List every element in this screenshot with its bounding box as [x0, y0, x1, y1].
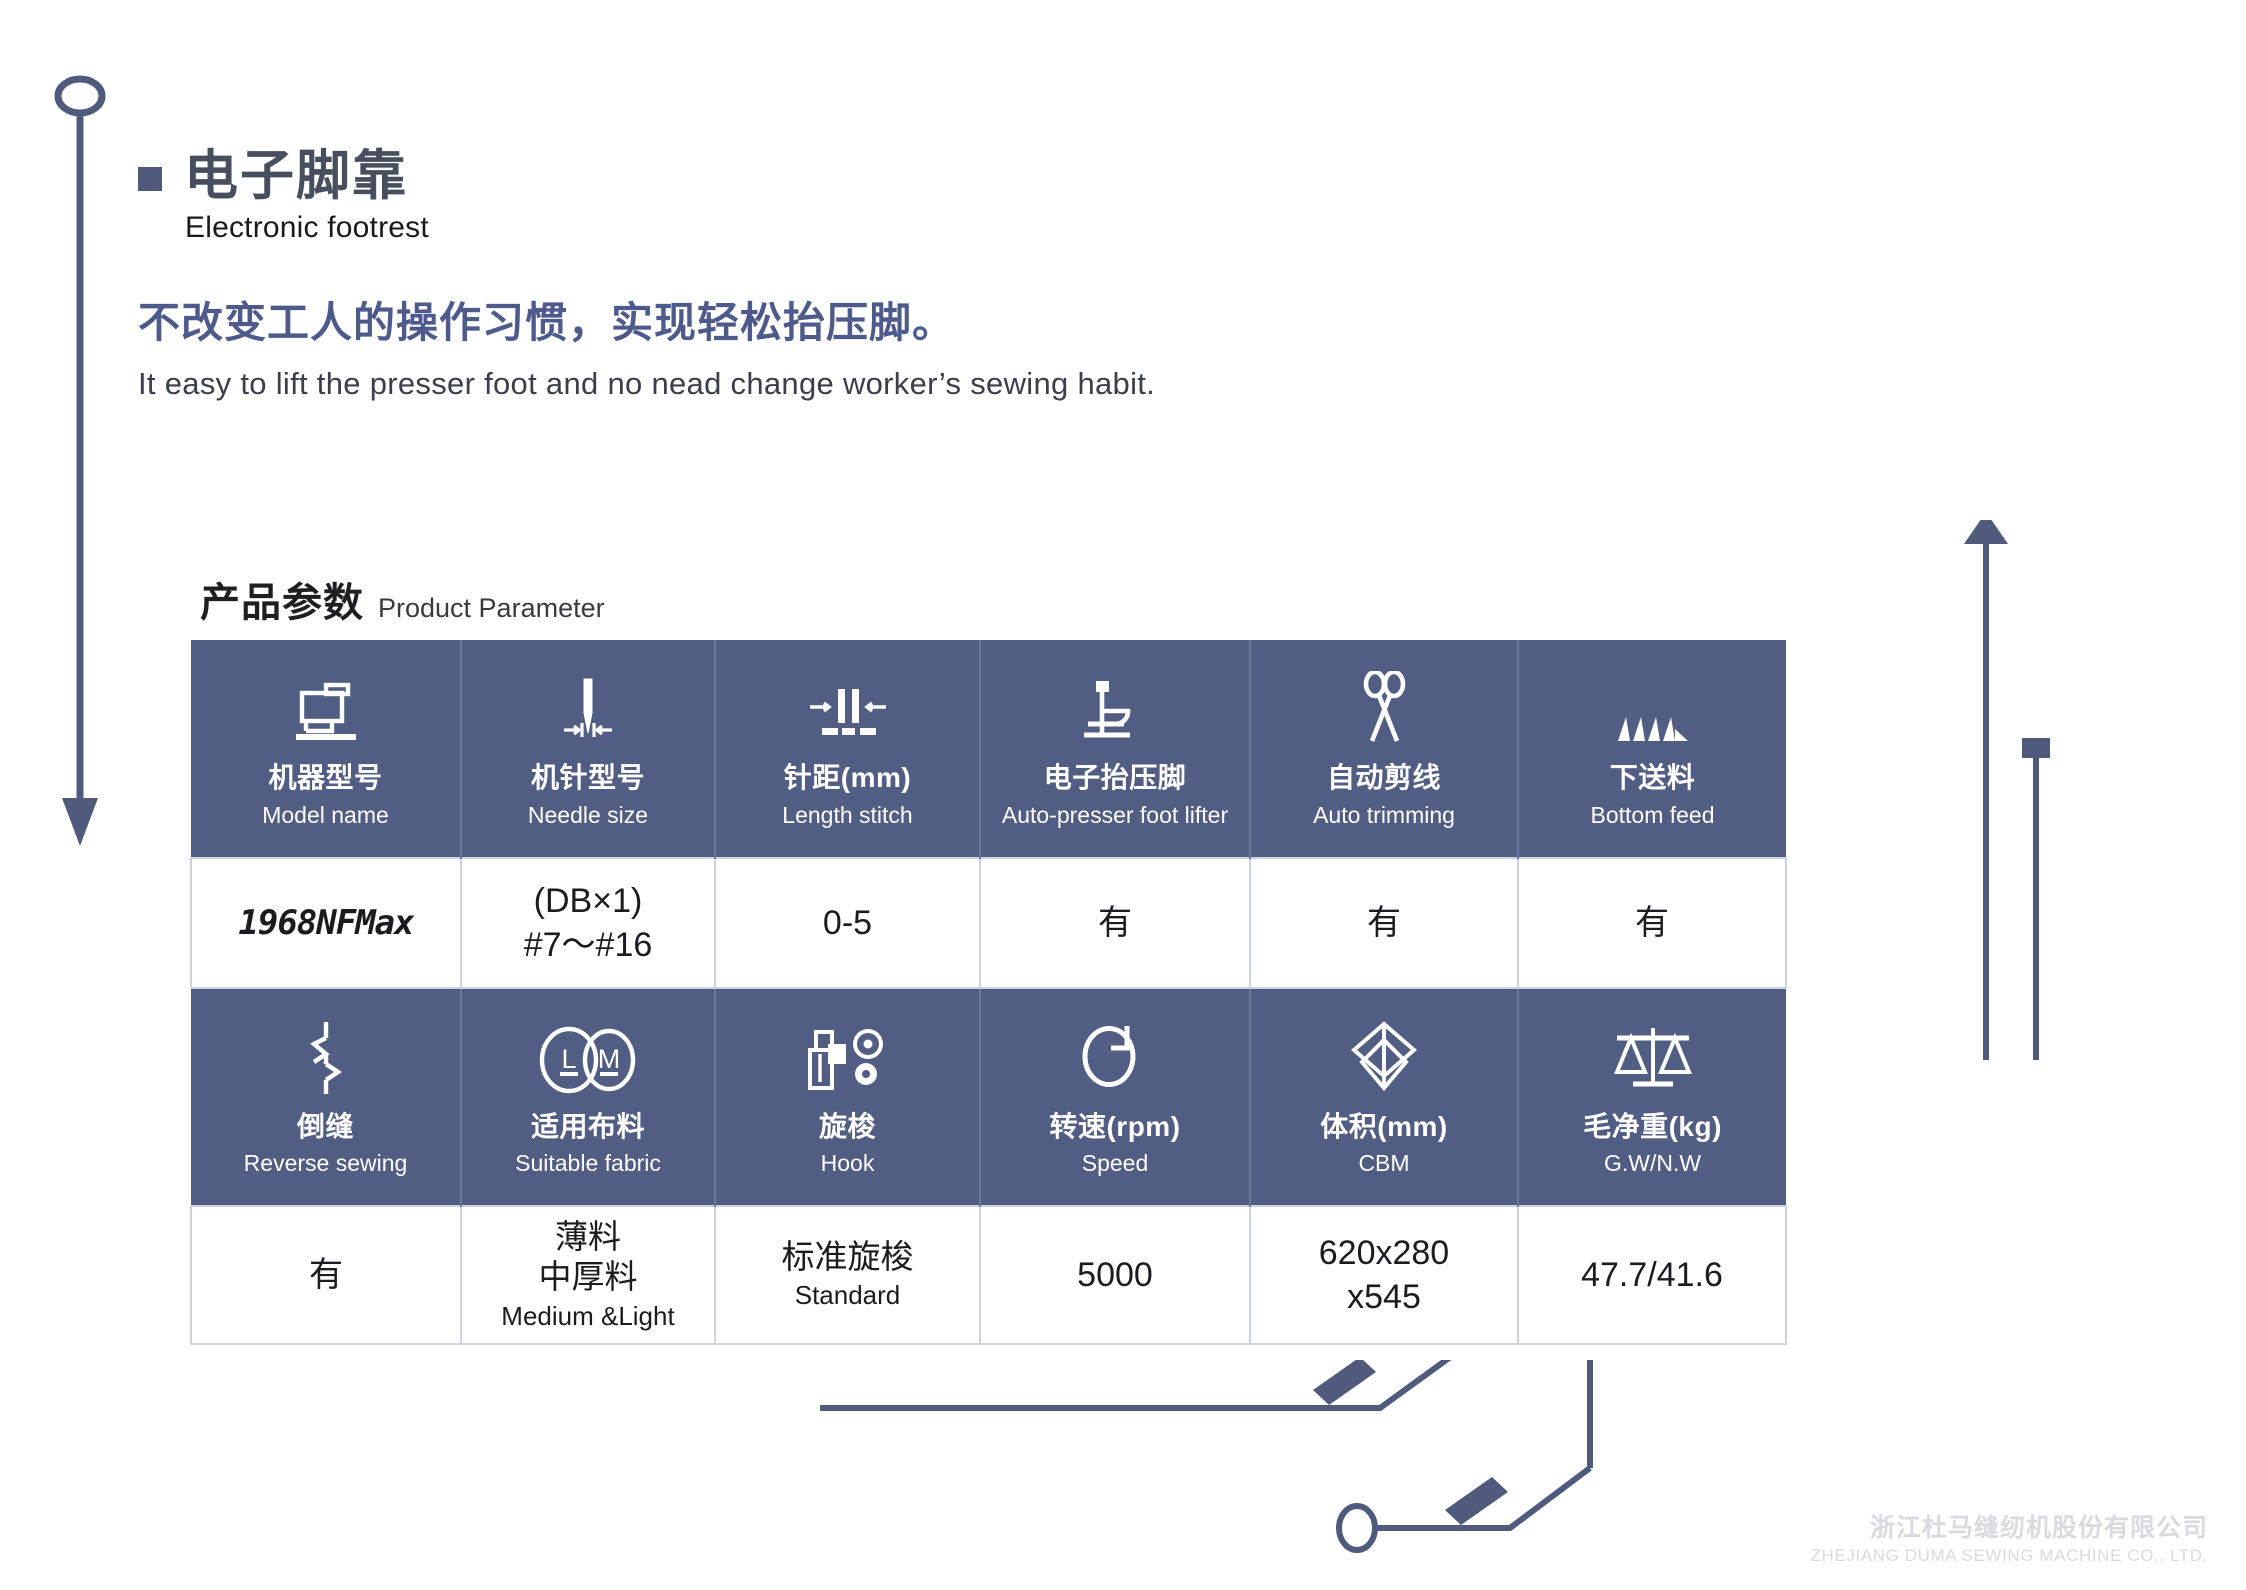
header-en: G.W/N.W [1523, 1149, 1782, 1178]
spec-table: 机器型号 Model name 机针型号 Need [190, 640, 1787, 1345]
value-line: 有 [1257, 901, 1511, 945]
header-cn: 自动剪线 [1255, 761, 1513, 795]
value-line: 620x280 [1257, 1231, 1511, 1275]
svg-text:M: M [598, 1044, 621, 1074]
value-cell-cbm: 620x280 x545 [1250, 1206, 1518, 1344]
table-header-row: 倒缝 Reverse sewing L M 适用布料 Suitable fabr… [191, 988, 1786, 1206]
value-line: x545 [1257, 1275, 1511, 1319]
bottom-feed-icon [1523, 669, 1782, 747]
table-header-row: 机器型号 Model name 机针型号 Need [191, 640, 1786, 858]
needle-size-icon [466, 669, 710, 747]
header-cell-needle-size: 机针型号 Needle size [461, 640, 715, 858]
tagline-cn: 不改变工人的操作习惯，实现轻松抬压脚。 [138, 289, 1155, 350]
header-en: Needle size [466, 801, 710, 830]
param-label-cn: 产品参数 [200, 570, 364, 628]
header-cell-speed: 转速(rpm) Speed [980, 988, 1250, 1206]
title-row: 电子脚靠 [138, 148, 1155, 205]
sewing-machine-icon [195, 669, 456, 747]
hook-icon [720, 1018, 975, 1096]
header-en: Model name [195, 801, 456, 830]
header-en: Length stitch [720, 801, 975, 830]
value-cell-model-name: 1968NFMax [191, 858, 461, 988]
decoration-left-arrow [0, 0, 200, 900]
heading-block: 电子脚靠 Electronic footrest 不改变工人的操作习惯，实现轻松… [138, 148, 1155, 402]
value-cell-auto-trimming: 有 [1250, 858, 1518, 988]
fabric-lm-icon: L M [466, 1018, 710, 1096]
header-cn: 体积(mm) [1255, 1110, 1513, 1144]
cbm-icon [1255, 1018, 1513, 1096]
header-cn: 转速(rpm) [985, 1110, 1245, 1144]
value-line: 有 [198, 1253, 454, 1297]
value-line: 5000 [987, 1253, 1243, 1297]
value-line: #7～#16 [468, 923, 708, 967]
value-line: (DB×1) [468, 879, 708, 923]
table-row: 1968NFMax (DB×1) #7～#16 0-5 有 有 有 [191, 858, 1786, 988]
header-en: Speed [985, 1149, 1245, 1178]
speed-icon [985, 1018, 1245, 1096]
header-cell-bottom-feed: 下送料 Bottom feed [1518, 640, 1786, 858]
stitch-length-icon [720, 669, 975, 747]
value-cell-bottom-feed: 有 [1518, 858, 1786, 988]
header-cell-stitch-length: 针距(mm) Length stitch [715, 640, 980, 858]
presser-foot-lifter-icon [985, 669, 1245, 747]
table-row: 有 薄料 中厚料 Medium &Light 标准旋梭 Standard 500… [191, 1206, 1786, 1344]
header-en: Auto-presser foot lifter [985, 801, 1245, 830]
scale-icon [1523, 1018, 1782, 1096]
header-en: Bottom feed [1523, 801, 1782, 830]
header-cell-hook: 旋梭 Hook [715, 988, 980, 1206]
value-line: 中厚料 [468, 1257, 708, 1297]
tagline-en: It easy to lift the presser foot and no … [138, 366, 1155, 402]
header-cell-auto-trimming: 自动剪线 Auto trimming [1250, 640, 1518, 858]
header-cn: 毛净重(kg) [1523, 1110, 1782, 1144]
value-line: 薄料 [468, 1217, 708, 1257]
value-cell-hook: 标准旋梭 Standard [715, 1206, 980, 1344]
value-cell-suitable-fabric: 薄料 中厚料 Medium &Light [461, 1206, 715, 1344]
value-cell-reverse-sewing: 有 [191, 1206, 461, 1344]
company-name-cn: 浙江杜马缝纫机股份有限公司 [1811, 1514, 2208, 1543]
page-title: 电子脚靠 [184, 148, 408, 205]
header-cn: 机针型号 [466, 761, 710, 795]
header-en: Reverse sewing [195, 1149, 456, 1178]
bullet-square-icon [138, 167, 162, 191]
value-cell-presser-foot-lifter: 有 [980, 858, 1250, 988]
value-cell-speed: 5000 [980, 1206, 1250, 1344]
header-en: CBM [1255, 1149, 1513, 1178]
header-cell-model-name: 机器型号 Model name [191, 640, 461, 858]
value-cell-stitch-length: 0-5 [715, 858, 980, 988]
product-parameter-label: 产品参数 Product Parameter [200, 570, 605, 628]
header-cell-presser-foot-lifter: 电子抬压脚 Auto-presser foot lifter [980, 640, 1250, 858]
page-subtitle-en: Electronic footrest [185, 211, 1155, 245]
reverse-sewing-icon [195, 1018, 456, 1096]
value-line: 47.7/41.6 [1525, 1253, 1779, 1297]
header-cell-reverse-sewing: 倒缝 Reverse sewing [191, 988, 461, 1206]
value-line: 标准旋梭 [722, 1237, 973, 1277]
header-cn: 电子抬压脚 [985, 761, 1245, 795]
header-cn: 下送料 [1523, 761, 1782, 795]
header-cell-weight: 毛净重(kg) G.W/N.W [1518, 988, 1786, 1206]
header-en: Suitable fabric [466, 1149, 710, 1178]
param-label-en: Product Parameter [378, 593, 605, 628]
header-cn: 机器型号 [195, 761, 456, 795]
value-line-en: Standard [722, 1279, 973, 1313]
header-cell-cbm: 体积(mm) CBM [1250, 988, 1518, 1206]
header-en: Auto trimming [1255, 801, 1513, 830]
header-en: Hook [720, 1149, 975, 1178]
header-cn: 旋梭 [720, 1110, 975, 1144]
value-line: 0-5 [722, 901, 973, 945]
header-cn: 适用布料 [466, 1110, 710, 1144]
company-logo: 浙江杜马缝纫机股份有限公司 ZHEJIANG DUMA SEWING MACHI… [1811, 1514, 2208, 1566]
header-cn: 针距(mm) [720, 761, 975, 795]
value-cell-needle-size: (DB×1) #7～#16 [461, 858, 715, 988]
svg-text:L: L [561, 1044, 576, 1074]
scissors-icon [1255, 669, 1513, 747]
value-cell-weight: 47.7/41.6 [1518, 1206, 1786, 1344]
decoration-right-arrow [1786, 520, 2246, 1060]
header-cell-suitable-fabric: L M 适用布料 Suitable fabric [461, 988, 715, 1206]
value-line-en: Medium &Light [468, 1300, 708, 1334]
model-name-value: 1968NFMax [198, 903, 454, 943]
company-name-en: ZHEJIANG DUMA SEWING MACHINE CO., LTD. [1811, 1546, 2208, 1566]
value-line: 有 [1525, 901, 1779, 945]
value-line: 有 [987, 901, 1243, 945]
header-cn: 倒缝 [195, 1110, 456, 1144]
